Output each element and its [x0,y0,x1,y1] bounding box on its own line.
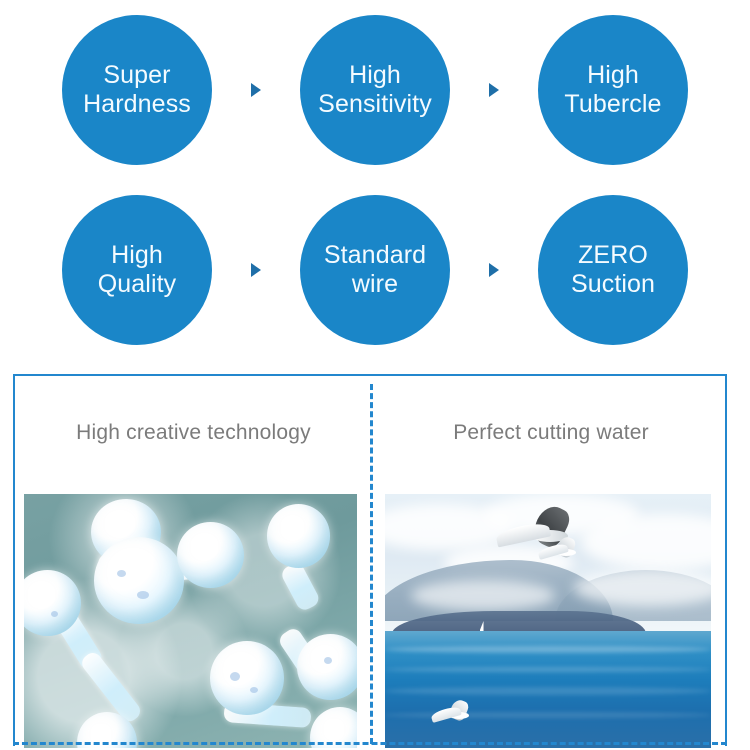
flow-bubble-label: SuperHardness [83,61,191,120]
flow-bubble-line-1: Standard [324,241,426,269]
flow-bubble-line-1: High [587,61,639,89]
flow-arrow-4 [450,263,538,277]
flow-arrow-2 [450,83,538,97]
icy-molecule-structure-photo [24,494,357,748]
showcase-image-right [385,494,711,748]
flow-row-2: HighQuality Standardwire ZEROSuction [0,180,750,360]
showcase-panel: High creative technology [13,374,727,746]
flow-bubble-line-2: Sensitivity [318,90,432,118]
flow-bubble-super-hardness[interactable]: SuperHardness [62,15,212,165]
flow-bubble-label: HighQuality [98,241,177,300]
showcase-image-left [24,494,357,748]
triangle-right-icon [489,83,499,97]
flow-bubble-line-1: ZERO [578,241,648,269]
flow-bubble-line-1: Super [103,61,170,89]
flow-bubble-zero-suction[interactable]: ZEROSuction [538,195,688,345]
seagull-small-upper-icon [538,537,578,561]
flow-row-1: SuperHardness HighSensitivity HighTuberc… [0,0,750,180]
flow-bubble-high-sensitivity[interactable]: HighSensitivity [300,15,450,165]
flow-bubble-label: HighSensitivity [318,61,432,120]
flow-bubble-line-1: High [111,241,163,269]
seagull-small-lower-icon [431,700,471,724]
showcase-caption-left: High creative technology [15,421,380,445]
flow-bubble-line-2: Quality [98,270,177,298]
panel-bottom-dashed-border [13,742,727,745]
flow-arrow-3 [212,263,300,277]
feature-flow-diagram: SuperHardness HighSensitivity HighTuberc… [0,0,750,360]
flow-bubble-line-1: High [349,61,401,89]
flow-bubble-high-tubercle[interactable]: HighTubercle [538,15,688,165]
showcase-column-left: High creative technology [15,376,372,746]
triangle-right-icon [489,263,499,277]
flow-arrow-1 [212,83,300,97]
flow-bubble-label: Standardwire [324,241,426,300]
showcase-caption-right: Perfect cutting water [375,421,749,445]
triangle-right-icon [251,83,261,97]
showcase-column-right: Perfect cutting water [375,376,727,746]
flow-bubble-label: HighTubercle [564,61,661,120]
flow-bubble-standard-wire[interactable]: Standardwire [300,195,450,345]
flow-bubble-line-2: Hardness [83,90,191,118]
flow-bubble-line-2: Tubercle [564,90,661,118]
flow-bubble-label: ZEROSuction [571,241,655,300]
flow-bubble-line-2: Suction [571,270,655,298]
flow-bubble-high-quality[interactable]: HighQuality [62,195,212,345]
flow-bubble-line-2: wire [352,270,398,298]
seagulls-over-lake-photo [385,494,711,748]
triangle-right-icon [251,263,261,277]
